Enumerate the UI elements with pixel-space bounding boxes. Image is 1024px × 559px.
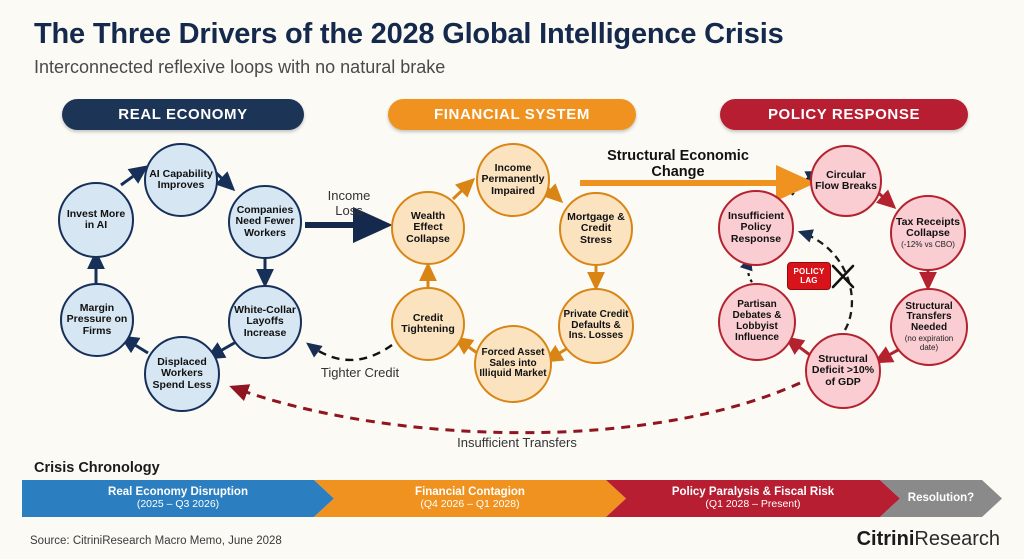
node-forced-asset-sales: Forced Asset Sales into Illiquid Market — [474, 325, 552, 403]
connector-label-structural-economic-change: Structural Economic Change — [580, 148, 776, 180]
segment-range: (2025 – Q3 2026) — [137, 499, 219, 511]
policy-lag-line1: POLICY — [794, 267, 825, 276]
chronology-segment-financial-contagion: Financial Contagion (Q4 2026 – Q1 2028) — [314, 480, 626, 517]
node-label: Credit Tightening — [393, 313, 463, 336]
policy-lag-line2: LAG — [800, 276, 818, 285]
node-structural-transfers-needed: Structural Transfers Needed (no expirati… — [890, 288, 968, 366]
chronology-bar: Real Economy Disruption (2025 – Q3 2026)… — [22, 480, 1002, 517]
chronology-segment-policy-paralysis: Policy Paralysis & Fiscal Risk (Q1 2028 … — [606, 480, 900, 517]
connector-label-insufficient-transfers: Insufficient Transfers — [432, 436, 602, 451]
node-label-main: Tax Receipts Collapse — [896, 216, 960, 239]
node-mortgage-credit-stress: Mortgage & Credit Stress — [559, 192, 633, 266]
node-label: Forced Asset Sales into Illiquid Market — [476, 348, 550, 380]
connector-label-income-loss: Income Loss — [313, 189, 385, 218]
node-wealth-effect-collapse: Wealth Effect Collapse — [391, 191, 465, 265]
node-label: Mortgage & Credit Stress — [561, 212, 631, 246]
chronology-segment-real-economy: Real Economy Disruption (2025 – Q3 2026) — [22, 480, 334, 517]
node-label: Tax Receipts Collapse (-12% vs CBO) — [892, 217, 964, 249]
segment-label: Resolution? — [908, 492, 974, 505]
node-displaced-workers-spend-less: Displaced Workers Spend Less — [144, 336, 220, 412]
node-circular-flow-breaks: Circular Flow Breaks — [810, 145, 882, 217]
page-subtitle: Interconnected reflexive loops with no n… — [34, 57, 445, 78]
node-insufficient-policy-response: Insufficient Policy Response — [718, 190, 794, 266]
node-label: Structural Deficit >10% of GDP — [807, 354, 879, 388]
section-header-policy-response: POLICY RESPONSE — [720, 99, 968, 130]
node-sublabel: (no expiration date) — [895, 335, 963, 352]
node-partisan-debates-lobbyist: Partisan Debates & Lobbyist Influence — [718, 283, 796, 361]
node-label: AI Capability Improves — [146, 169, 216, 192]
node-white-collar-layoffs: White-Collar Layoffs Increase — [228, 285, 302, 359]
node-income-permanently-impaired: Income Permanently Impaired — [476, 143, 550, 217]
node-label: Circular Flow Breaks — [812, 170, 880, 193]
logo-bold: Citrini — [857, 528, 915, 550]
segment-range: (Q4 2026 – Q1 2028) — [420, 499, 519, 511]
chronology-title: Crisis Chronology — [34, 460, 160, 476]
node-ai-capability: AI Capability Improves — [144, 143, 218, 217]
node-label: Partisan Debates & Lobbyist Influence — [720, 300, 794, 343]
node-label: Margin Pressure on Firms — [62, 303, 132, 337]
node-margin-pressure-on-firms: Margin Pressure on Firms — [60, 283, 134, 357]
node-label: Private Credit Defaults & Ins. Losses — [560, 310, 632, 342]
node-invest-more-in-ai: Invest More in AI — [58, 182, 134, 258]
node-structural-deficit: Structural Deficit >10% of GDP — [805, 333, 881, 409]
brand-logo: CitriniResearch — [857, 528, 1000, 551]
node-label: Wealth Effect Collapse — [393, 211, 463, 245]
source-note: Source: CitriniResearch Macro Memo, June… — [30, 535, 282, 547]
node-label: Invest More in AI — [60, 209, 132, 232]
node-label: Companies Need Fewer Workers — [230, 205, 300, 239]
node-label: White-Collar Layoffs Increase — [230, 305, 300, 339]
node-label: Structural Transfers Needed (no expirati… — [892, 302, 966, 353]
node-sublabel: (-12% vs CBO) — [895, 241, 961, 250]
node-label: Income Permanently Impaired — [478, 163, 548, 197]
segment-range: (Q1 2028 – Present) — [705, 499, 800, 511]
node-credit-tightening: Credit Tightening — [391, 287, 465, 361]
node-label: Displaced Workers Spend Less — [146, 357, 218, 391]
policy-lag-badge: POLICY LAG — [787, 262, 831, 290]
logo-light: Research — [914, 528, 1000, 550]
node-tax-receipts-collapse: Tax Receipts Collapse (-12% vs CBO) — [890, 195, 966, 271]
infographic-canvas: The Three Drivers of the 2028 Global Int… — [0, 0, 1024, 559]
node-label-main: Structural Transfers Needed — [905, 301, 952, 334]
policy-lag-text: POLICY LAG — [794, 267, 825, 285]
page-title: The Three Drivers of the 2028 Global Int… — [34, 18, 784, 51]
section-header-real-economy: REAL ECONOMY — [62, 99, 304, 130]
node-label: Insufficient Policy Response — [720, 211, 792, 245]
node-private-credit-defaults: Private Credit Defaults & Ins. Losses — [558, 288, 634, 364]
node-companies-need-fewer-workers: Companies Need Fewer Workers — [228, 185, 302, 259]
connector-label-tighter-credit: Tighter Credit — [305, 366, 415, 381]
section-header-financial-system: FINANCIAL SYSTEM — [388, 99, 636, 130]
